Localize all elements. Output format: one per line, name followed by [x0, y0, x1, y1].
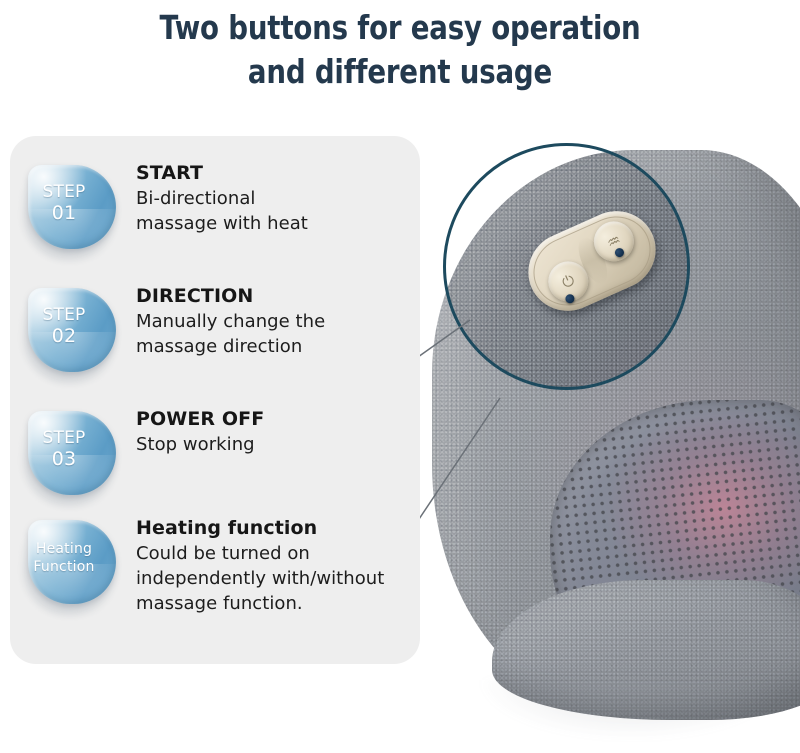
badge-line-1: Heating	[36, 540, 92, 558]
step-description: Bi-directional massage with heat	[136, 186, 420, 236]
step-description: Could be turned on independently with/wi…	[136, 541, 420, 616]
step-title: DIRECTION	[136, 284, 420, 309]
massage-pillow: ⏻ ♒	[432, 150, 800, 710]
badge-step-02: STEP 02	[20, 284, 124, 384]
step-text-heating: Heating function Could be turned on inde…	[136, 516, 420, 616]
steps-panel: STEP 01 START Bi-directional massage wit…	[10, 136, 420, 664]
badge-label: STEP 03	[20, 407, 108, 491]
badge-label: STEP 02	[20, 284, 108, 368]
step-text-02: DIRECTION Manually change the massage di…	[136, 284, 420, 359]
badge-line-2: 01	[52, 203, 77, 224]
badge-step-01: STEP 01	[20, 161, 124, 261]
badge-label: Heating Function	[20, 516, 108, 600]
headline-line-1: Two buttons for easy operation	[159, 8, 640, 47]
step-title: POWER OFF	[136, 407, 420, 432]
steps-list: STEP 01 START Bi-directional massage wit…	[10, 136, 420, 664]
badge-line-1: STEP	[43, 428, 86, 449]
badge-line-1: STEP	[43, 182, 86, 203]
badge-step-03: STEP 03	[20, 407, 124, 507]
badge-line-2: 03	[52, 449, 77, 470]
page-title: Two buttons for easy operationand differ…	[28, 6, 772, 94]
headline-line-2: and different usage	[248, 52, 552, 91]
badge-heating-function: Heating Function	[20, 516, 124, 616]
step-title: START	[136, 161, 420, 186]
surface-reflection	[482, 680, 782, 738]
infographic-stage: Two buttons for easy operationand differ…	[0, 0, 800, 753]
badge-line-2: 02	[52, 326, 77, 347]
step-description: Stop working	[136, 432, 420, 457]
step-text-03: POWER OFF Stop working	[136, 407, 420, 457]
badge-label: STEP 01	[20, 161, 108, 245]
step-title: Heating function	[136, 516, 420, 541]
badge-line-1: STEP	[43, 305, 86, 326]
step-text-01: START Bi-directional massage with heat	[136, 161, 420, 236]
step-description: Manually change the massage direction	[136, 309, 420, 359]
product-photo: ⏻ ♒	[392, 120, 800, 753]
badge-line-2: Function	[33, 558, 94, 576]
